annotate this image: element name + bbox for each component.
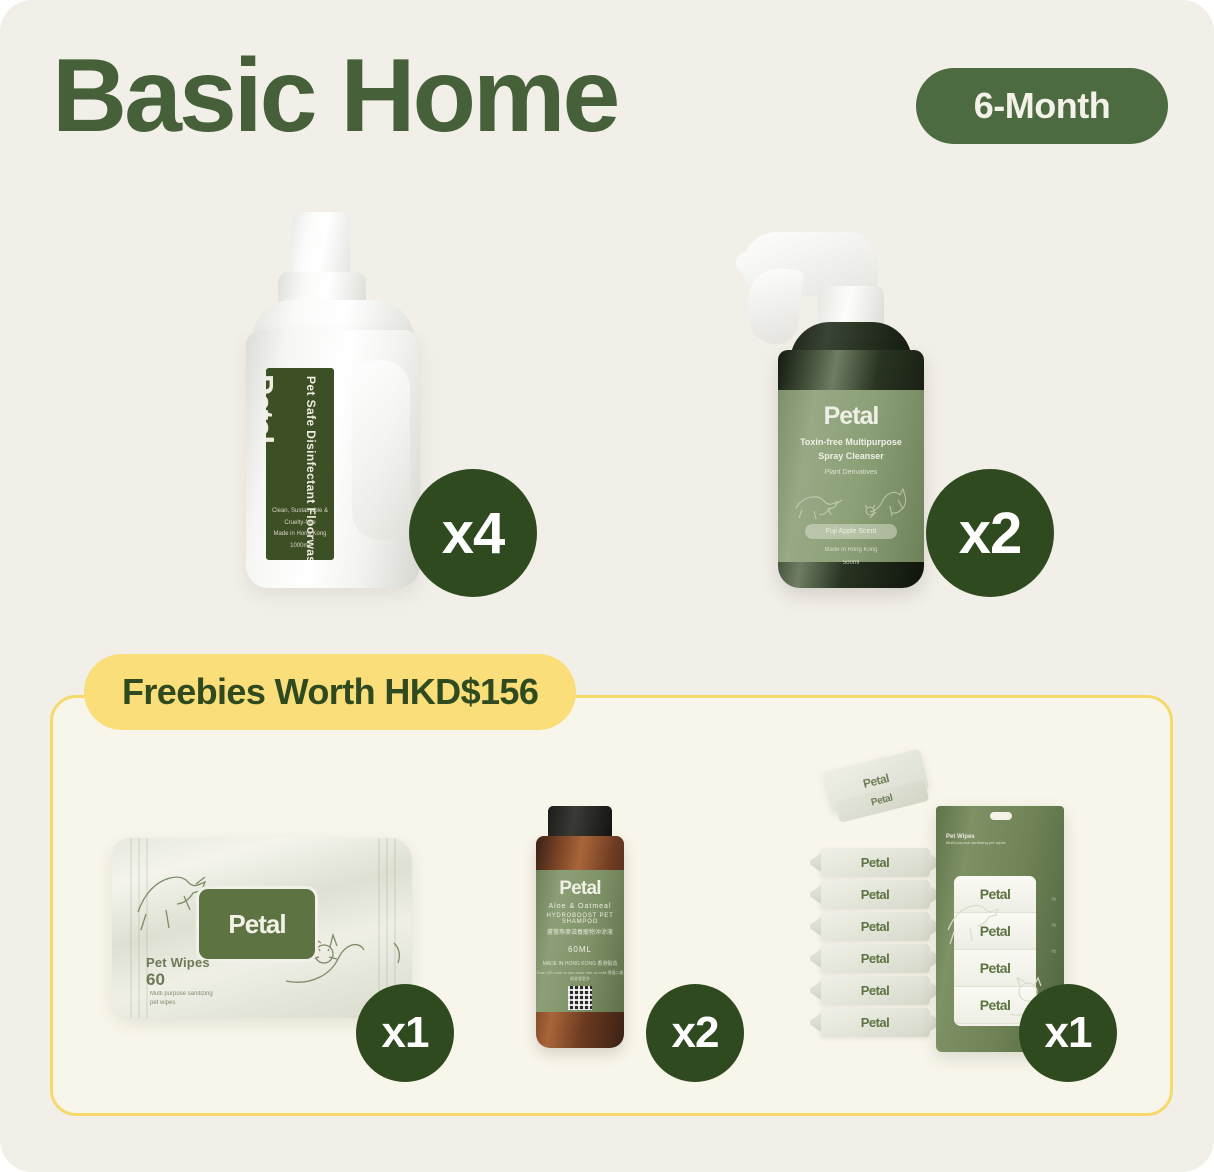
sachet-stack: Petal Petal Petal Petal Petal Petal bbox=[820, 848, 930, 1040]
brand-name: Petal bbox=[266, 374, 280, 443]
wipes-text-block: Pet Wipes 60 Multi purpose sanitizing pe… bbox=[146, 955, 220, 1009]
floorwash-label: Petal Pet Safe Disinfectant Floorwash Cl… bbox=[266, 368, 334, 560]
shampoo-product-line-cn: 蘆薈燕麥滋養寵物沖涼液 bbox=[536, 927, 624, 936]
label-volume: 1000ml bbox=[266, 541, 334, 552]
box-detail: Multi purpose sanitizing pet wipes bbox=[946, 840, 1006, 846]
sachet: Petal bbox=[820, 880, 930, 909]
label-origin: Made in Hong Kong bbox=[266, 529, 334, 540]
brand-name: Petal bbox=[196, 886, 318, 962]
page-title: Basic Home bbox=[52, 44, 617, 148]
label-volume: 500ml bbox=[778, 558, 924, 569]
bottle-grip bbox=[352, 360, 410, 540]
qr-code-icon bbox=[568, 986, 592, 1010]
quantity-badge-floorwash: x4 bbox=[409, 469, 537, 597]
shampoo-product-line: HYDROBOOST PET SHAMPOO bbox=[536, 913, 624, 925]
wipes-title: Pet Wipes bbox=[146, 955, 220, 970]
scent-badge: Fuji Apple Scent bbox=[805, 524, 897, 539]
quantity-badge-pet-wipes: x1 bbox=[356, 984, 454, 1082]
product-description-line1: Toxin-free Multipurpose bbox=[778, 436, 924, 450]
sachet: Petal bbox=[820, 976, 930, 1005]
brand-name: Petal bbox=[778, 402, 924, 431]
spray-label: Petal Toxin-free Multipurpose Spray Clea… bbox=[778, 390, 924, 562]
shampoo-volume: 60ML bbox=[536, 945, 624, 954]
shampoo-label: Petal Aloe & Oatmeal HYDROBOOST PET SHAM… bbox=[536, 870, 624, 1012]
dog-illustration bbox=[942, 886, 1002, 956]
term-badge: 6-Month bbox=[916, 68, 1168, 144]
quantity-badge-shampoo: x2 bbox=[646, 984, 744, 1082]
box-text-block: Pet Wipes Multi purpose sanitizing pet w… bbox=[946, 834, 1006, 846]
product-description-line2: Spray Cleanser bbox=[778, 450, 924, 464]
pet-illustration bbox=[778, 478, 924, 520]
hang-hole bbox=[990, 812, 1012, 820]
shampoo-origin: MADE IN HONG KONG 香港製造 bbox=[536, 960, 624, 967]
quantity-badge-multipack: x1 bbox=[1019, 984, 1117, 1082]
sachet: Petal bbox=[820, 944, 930, 973]
wipes-detail: Multi purpose sanitizing pet wipes bbox=[150, 990, 220, 1008]
bundle-card: Basic Home 6-Month Petal Pet Safe Disinf… bbox=[0, 0, 1214, 1172]
shampoo-note: Scan QR code to see more info on refill … bbox=[536, 970, 624, 982]
wipes-count: 60 bbox=[146, 970, 165, 990]
label-origin: Made in Hong Kong bbox=[778, 545, 924, 556]
brand-name: Petal bbox=[536, 878, 624, 900]
freebies-banner: Freebies Worth HKD$156 bbox=[84, 654, 576, 730]
sachet: Petal bbox=[820, 1008, 930, 1037]
product-subtitle: Plant Derivatives bbox=[778, 469, 924, 476]
sachet: Petal bbox=[820, 912, 930, 941]
box-side-strip: ≈ ≈ ≈ bbox=[1048, 886, 1060, 964]
quantity-badge-spray: x2 bbox=[926, 469, 1054, 597]
label-footer: Clean, Sustainable & Cruelty-free Made i… bbox=[266, 506, 334, 552]
sachet: Petal bbox=[820, 848, 930, 877]
shampoo-variant: Aloe & Oatmeal bbox=[536, 903, 624, 910]
label-claims: Clean, Sustainable & Cruelty-free bbox=[266, 506, 334, 529]
